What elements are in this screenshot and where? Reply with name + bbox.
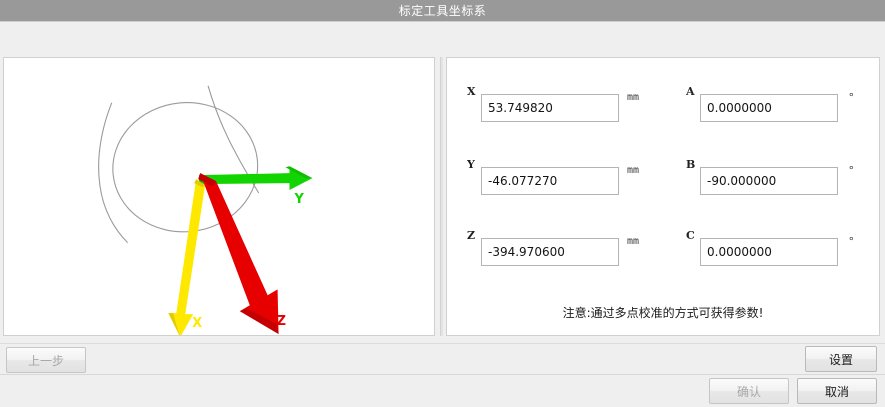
axis-label-y: Y [293,192,304,207]
axis-label-z: Z [277,314,286,329]
previous-step-button[interactable]: 上一步 [6,347,86,373]
field-unit-c: ° [848,235,855,248]
window-titlebar: 标定工具坐标系 [0,0,885,22]
axis-x-arrow [168,179,205,335]
field-unit-b: ° [848,164,855,177]
b-value-input[interactable] [700,167,838,195]
field-unit-x: mm [627,92,639,103]
axis-z-arrow [198,173,278,334]
field-row: Z mm C ° [447,228,879,274]
calibration-note: 注意:通过多点校准的方式可获得参数! [447,304,879,321]
field-row: Y mm B ° [447,157,879,203]
z-value-input[interactable] [481,238,619,266]
a-value-input[interactable] [700,94,838,122]
settings-button[interactable]: 设置 [805,346,877,372]
coordinate-axes-diagram: Y X X Z [4,58,434,335]
dialog-footer: 确认 取消 [0,374,885,407]
field-label-c: C [686,229,695,242]
field-unit-y: mm [627,165,639,176]
tool-coordinate-preview-panel[interactable]: Y X X Z [3,57,435,336]
field-label-x: X [467,85,476,98]
tool-wireframe-icon [99,86,264,243]
coordinate-form-panel: X mm A ° Y mm B ° [446,57,880,336]
field-row: X mm A ° [447,84,879,130]
confirm-button[interactable]: 确认 [709,378,789,404]
field-label-b: B [686,158,695,171]
field-label-a: A [686,85,695,98]
field-unit-a: ° [848,91,855,104]
y-value-input[interactable] [481,167,619,195]
field-unit-z: mm [627,236,639,247]
x-value-input[interactable] [481,94,619,122]
axis-label-x-visible: X [192,316,202,331]
field-label-y: Y [467,158,475,171]
window-title: 标定工具坐标系 [399,2,487,19]
field-label-z: Z [467,229,475,242]
c-value-input[interactable] [700,238,838,266]
dialog-content: Y X X Z X mm A ° Y mm [0,23,885,343]
dialog-toolbar: 上一步 设置 [0,343,885,374]
panel-divider [440,57,443,336]
cancel-button[interactable]: 取消 [797,378,877,404]
